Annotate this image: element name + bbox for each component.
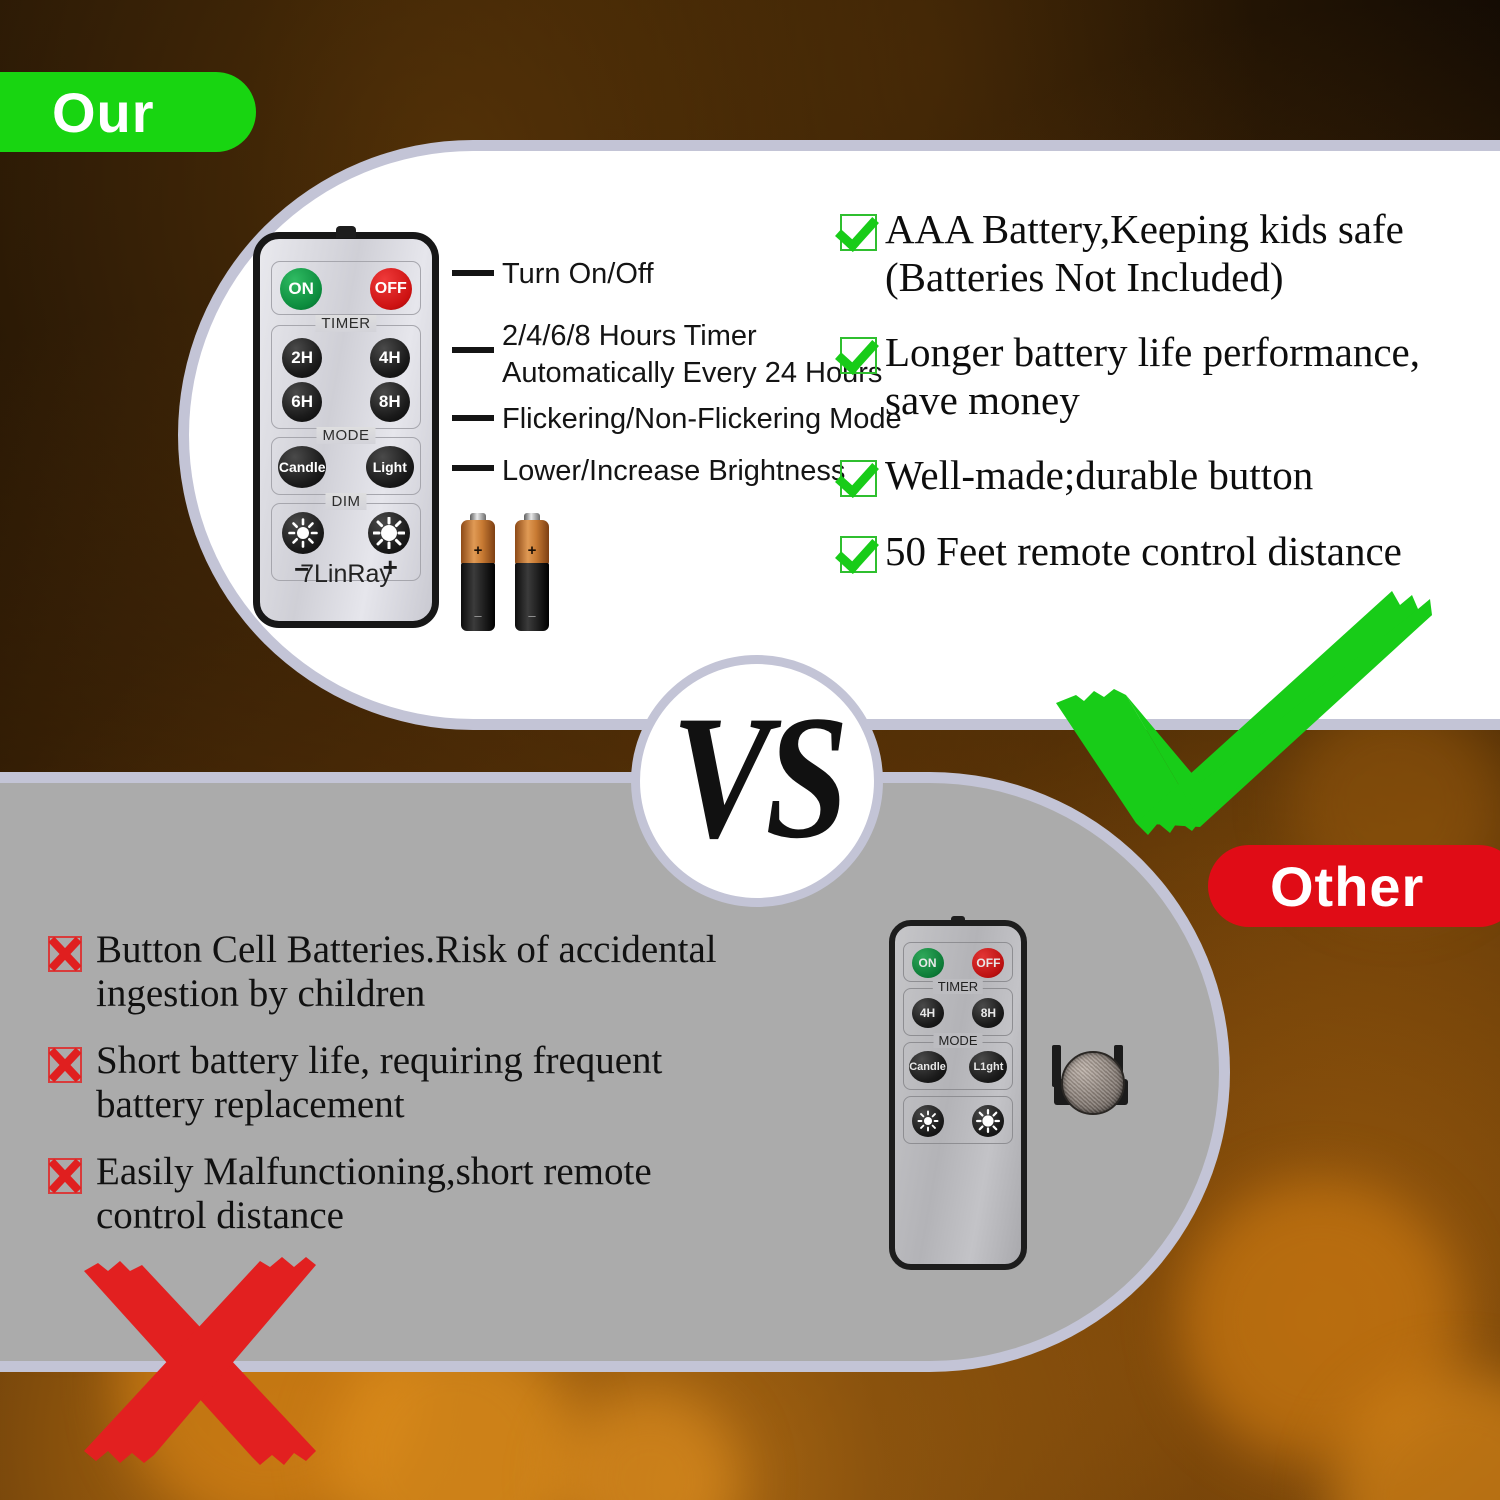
feature-text: Longer battery life performance, save mo… [885,329,1420,424]
aaa-battery-icon: + – [515,513,549,631]
callout-timer-label: 2/4/6/8 Hours Timer Automatically Every … [502,318,882,392]
callout-line [452,270,494,276]
battery-plus-sign: + [528,542,537,564]
mode-light-button[interactable]: L1ght [969,1051,1007,1083]
off-button[interactable]: OFF [370,268,412,310]
timer-button-group: TIMER 4H 8H [903,988,1014,1036]
drawback-text: Button Cell Batteries.Risk of accidental… [96,928,717,1017]
drawback-item: Short battery life, requiring frequent b… [48,1039,818,1128]
sun-bright-icon[interactable] [368,512,410,554]
dim-button-group [903,1096,1014,1144]
feature-text: Well-made;durable button [885,452,1313,500]
our-badge-label: Our [52,80,155,145]
coin-cell-battery-icon [1050,1045,1136,1117]
mode-group-label: MODE [316,427,375,444]
callout-power-label: Turn On/Off [502,256,654,293]
drawback-item: Easily Malfunctioning,short remote contr… [48,1150,818,1239]
sun-dim-icon[interactable] [912,1105,944,1137]
on-button[interactable]: ON [912,948,944,978]
timer-6h-button[interactable]: 6H [282,382,322,422]
mode-candle-button[interactable]: Candle [278,446,326,488]
remote-brand-label: 7LinRay [260,560,432,589]
drawback-text: Easily Malfunctioning,short remote contr… [96,1150,652,1239]
other-drawback-list: Button Cell Batteries.Risk of accidental… [48,928,818,1261]
battery-positive-end: + [515,520,549,564]
other-remote-control[interactable]: ON OFF TIMER 4H 8H MODE Candle L1ght [889,920,1027,1270]
check-icon [840,337,877,374]
dim-group-label: DIM [325,493,366,510]
feature-item: 50 Feet remote control distance [840,528,1490,576]
power-button-group: ON OFF [271,261,421,315]
timer-8h-button[interactable]: 8H [972,998,1004,1028]
feature-item: Well-made;durable button [840,452,1490,500]
timer-group-label: TIMER [315,315,376,332]
power-button-group: ON OFF [903,942,1014,982]
aaa-battery-icon: + – [461,513,495,631]
ir-emitter-icon [951,916,965,925]
check-icon [840,536,877,573]
timer-4h-button[interactable]: 4H [370,338,410,378]
feature-item: AAA Battery,Keeping kids safe (Batteries… [840,206,1490,301]
mode-button-group: MODE Candle L1ght [903,1042,1014,1090]
callout-line [452,415,494,421]
timer-8h-button[interactable]: 8H [370,382,410,422]
battery-positive-end: + [461,520,495,564]
off-button[interactable]: OFF [972,948,1004,978]
battery-plus-sign: + [474,542,483,564]
cross-icon [48,1047,82,1083]
mode-candle-button[interactable]: Candle [909,1051,947,1083]
big-cross-icon [70,1245,340,1490]
cross-icon [48,936,82,972]
timer-2h-button[interactable]: 2H [282,338,322,378]
vs-badge: VS [631,655,883,907]
comparison-infographic: ON OFF TIMER 2H 4H 6H 8H MODE Candle Lig… [0,0,1500,1500]
mode-button-group: MODE Candle Light [271,437,421,495]
check-icon [840,214,877,251]
on-button[interactable]: ON [280,268,322,310]
our-feature-list: AAA Battery,Keeping kids safe (Batteries… [840,206,1490,603]
timer-4h-button[interactable]: 4H [912,998,944,1028]
coin-cell [1061,1051,1125,1115]
ir-emitter-icon [336,226,356,238]
timer-button-group: TIMER 2H 4H 6H 8H [271,325,421,429]
callout-line [452,465,494,471]
vs-label: VS [671,689,842,866]
feature-item: Longer battery life performance, save mo… [840,329,1490,424]
battery-body: – [461,563,495,631]
drawback-text: Short battery life, requiring frequent b… [96,1039,662,1128]
big-check-icon [1040,575,1440,870]
feature-text: AAA Battery,Keeping kids safe (Batteries… [885,206,1404,301]
sun-bright-icon[interactable] [972,1105,1004,1137]
battery-body: – [515,563,549,631]
callout-line [452,347,494,353]
our-remote-control[interactable]: ON OFF TIMER 2H 4H 6H 8H MODE Candle Lig… [253,232,439,628]
battery-minus-sign: – [528,608,535,623]
callout-dim-label: Lower/Increase Brightness [502,453,845,490]
mode-light-button[interactable]: Light [366,446,414,488]
drawback-item: Button Cell Batteries.Risk of accidental… [48,928,818,1017]
sun-dim-icon[interactable] [282,512,324,554]
check-icon [840,460,877,497]
our-badge: Our [0,72,256,152]
mode-group-label: MODE [933,1033,982,1048]
feature-text: 50 Feet remote control distance [885,528,1402,576]
timer-group-label: TIMER [933,979,983,994]
battery-minus-sign: – [474,608,481,623]
cross-icon [48,1158,82,1194]
